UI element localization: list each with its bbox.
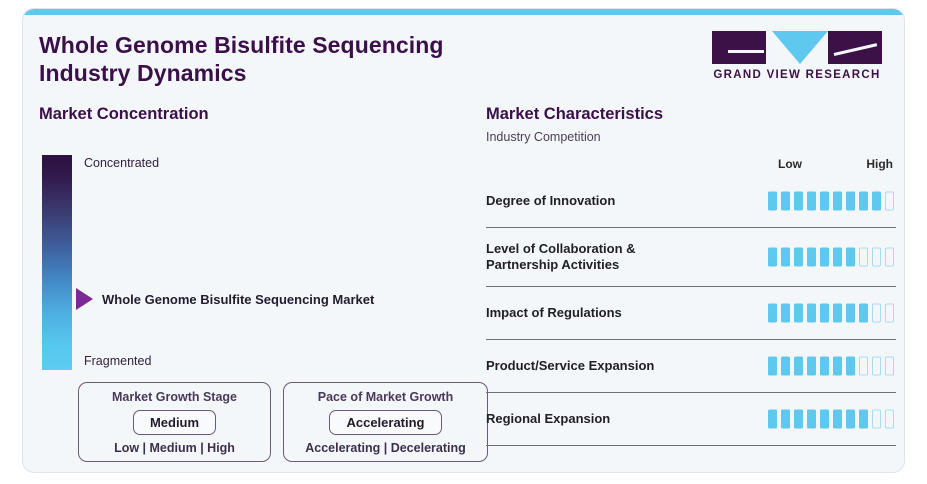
logo-letter-r-icon — [828, 31, 882, 64]
rating-bar-filled — [859, 192, 868, 211]
characteristic-row: Product/Service Expansion — [486, 340, 896, 393]
market-growth-stage-box: Market Growth Stage Medium Low | Medium … — [78, 382, 271, 462]
rating-bar-filled — [846, 248, 855, 267]
rating-bar-filled — [833, 357, 842, 376]
marker-arrow-icon — [76, 288, 93, 310]
rating-bar-filled — [781, 192, 790, 211]
rating-bar-filled — [794, 248, 803, 267]
rating-bar-filled — [781, 410, 790, 429]
concentration-top-label: Concentrated — [84, 156, 159, 170]
rating-bar-empty — [872, 304, 881, 323]
logo-mark — [704, 31, 890, 65]
rating-bar-filled — [820, 304, 829, 323]
logo-letter-g-icon — [712, 31, 766, 64]
rating-bar-filled — [807, 357, 816, 376]
market-characteristics-section: Market Characteristics Industry Competit… — [486, 105, 896, 446]
rating-bar-filled — [768, 304, 777, 323]
market-characteristics-heading: Market Characteristics — [486, 105, 896, 124]
rating-bar-filled — [820, 192, 829, 211]
market-characteristics-rows: Degree of InnovationLevel of Collaborati… — [486, 175, 896, 446]
infographic-card: Whole Genome Bisulfite Sequencing Indust… — [22, 8, 905, 473]
rating-bar-filled — [781, 248, 790, 267]
rating-bar-filled — [872, 192, 881, 211]
rating-bar-filled — [781, 357, 790, 376]
page-title-line-1: Whole Genome Bisulfite Sequencing — [39, 31, 679, 59]
market-concentration-heading: Market Concentration — [39, 105, 469, 124]
characteristic-row: Level of Collaboration &Partnership Acti… — [486, 228, 896, 287]
rating-bar-filled — [794, 357, 803, 376]
rating-bar-filled — [820, 410, 829, 429]
rating-bar-filled — [846, 192, 855, 211]
characteristic-label: Degree of Innovation — [486, 193, 766, 209]
market-concentration-section: Market Concentration Concentrated Fragme… — [39, 105, 469, 460]
rating-bar-filled — [846, 304, 855, 323]
rating-bar-filled — [794, 304, 803, 323]
infographic-page: Whole Genome Bisulfite Sequencing Indust… — [0, 0, 927, 484]
rating-bar-empty — [885, 192, 894, 211]
card-top-accent-bar — [23, 9, 904, 15]
rating-bar-filled — [807, 192, 816, 211]
rating-bar-empty — [872, 410, 881, 429]
rating-bar-filled — [807, 410, 816, 429]
rating-bar-filled — [768, 410, 777, 429]
rating-bar-empty — [885, 304, 894, 323]
characteristic-label: Product/Service Expansion — [486, 358, 766, 374]
characteristic-row: Regional Expansion — [486, 393, 896, 446]
characteristic-label: Regional Expansion — [486, 411, 766, 427]
rating-bar-filled — [859, 304, 868, 323]
page-title-line-2: Industry Dynamics — [39, 59, 679, 87]
rating-bar-filled — [768, 248, 777, 267]
grand-view-research-logo: GRAND VIEW RESEARCH — [704, 31, 890, 87]
rating-bar-filled — [833, 304, 842, 323]
concentration-gradient-scale: Concentrated Fragmented Whole Genome Bis… — [42, 155, 462, 370]
rating-bar-empty — [885, 410, 894, 429]
rating-bars — [768, 192, 894, 211]
rating-bar-filled — [807, 304, 816, 323]
rating-bar-filled — [794, 410, 803, 429]
characteristic-label: Level of Collaboration &Partnership Acti… — [486, 241, 766, 273]
rating-bar-filled — [807, 248, 816, 267]
characteristic-row: Degree of Innovation — [486, 175, 896, 228]
rating-bars — [768, 304, 894, 323]
rating-bar-filled — [768, 357, 777, 376]
pace-of-market-growth-title: Pace of Market Growth — [294, 390, 477, 404]
rating-bar-filled — [846, 410, 855, 429]
rating-bars — [768, 357, 894, 376]
market-growth-stage-title: Market Growth Stage — [89, 390, 260, 404]
rating-bar-empty — [872, 248, 881, 267]
rating-bars — [768, 410, 894, 429]
characteristic-label: Impact of Regulations — [486, 305, 766, 321]
market-growth-stage-value: Medium — [133, 410, 216, 435]
concentration-bottom-label: Fragmented — [84, 354, 151, 368]
logo-wordmark: GRAND VIEW RESEARCH — [704, 69, 890, 81]
market-characteristics-subheading: Industry Competition — [486, 130, 896, 144]
rating-bar-filled — [833, 248, 842, 267]
rating-scale-legend: Low High — [486, 157, 896, 175]
characteristic-row: Impact of Regulations — [486, 287, 896, 340]
scale-high-label: High — [866, 157, 893, 171]
concentration-gradient-bar — [42, 155, 72, 370]
rating-bar-filled — [833, 192, 842, 211]
pace-of-market-growth-scale: Accelerating | Decelerating — [294, 441, 477, 455]
rating-bar-filled — [820, 357, 829, 376]
rating-bar-filled — [859, 410, 868, 429]
rating-bar-empty — [885, 357, 894, 376]
pace-of-market-growth-value: Accelerating — [329, 410, 441, 435]
market-growth-stage-scale: Low | Medium | High — [89, 441, 260, 455]
rating-bar-filled — [820, 248, 829, 267]
rating-bars — [768, 248, 894, 267]
market-stat-boxes: Market Growth Stage Medium Low | Medium … — [78, 382, 488, 462]
page-title: Whole Genome Bisulfite Sequencing Indust… — [39, 31, 679, 87]
rating-bar-filled — [833, 410, 842, 429]
scale-low-label: Low — [778, 157, 802, 171]
pace-of-market-growth-box: Pace of Market Growth Accelerating Accel… — [283, 382, 488, 462]
rating-bar-empty — [859, 248, 868, 267]
market-position-marker: Whole Genome Bisulfite Sequencing Market — [76, 288, 374, 310]
rating-bar-empty — [885, 248, 894, 267]
logo-letter-v-icon — [772, 31, 828, 64]
rating-bar-empty — [859, 357, 868, 376]
marker-label: Whole Genome Bisulfite Sequencing Market — [102, 292, 374, 307]
rating-bar-filled — [794, 192, 803, 211]
rating-bar-filled — [781, 304, 790, 323]
rating-bar-empty — [872, 357, 881, 376]
rating-bar-filled — [768, 192, 777, 211]
rating-bar-filled — [846, 357, 855, 376]
